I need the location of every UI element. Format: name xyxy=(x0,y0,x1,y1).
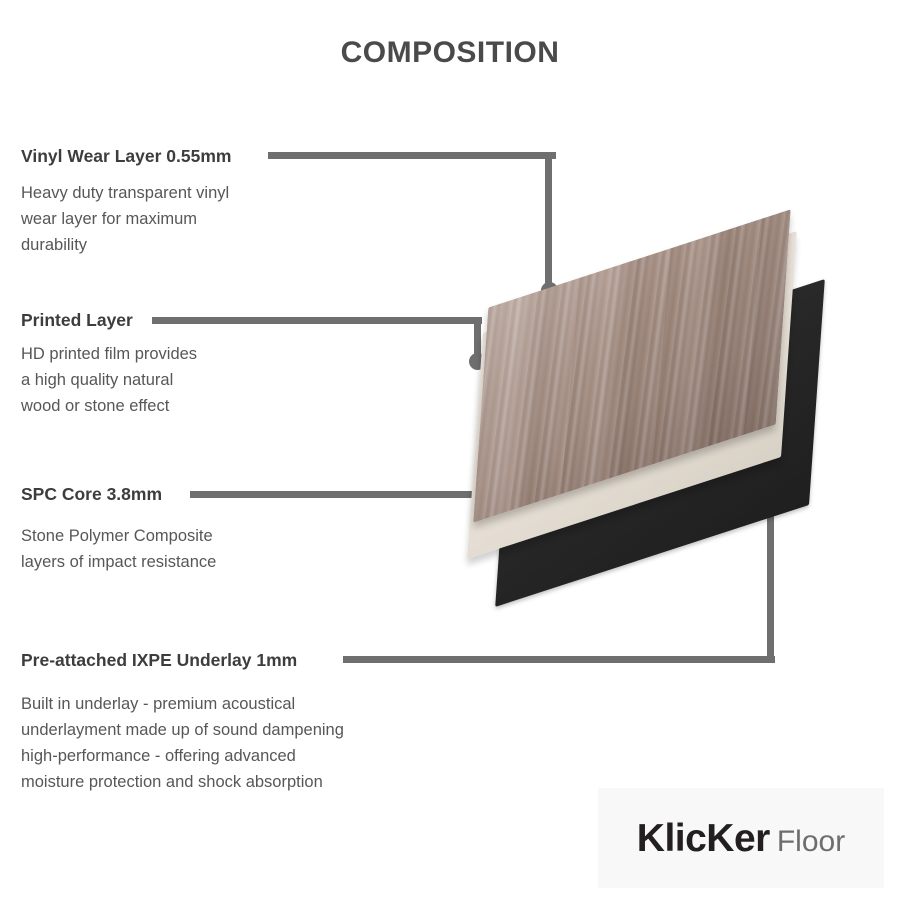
page-title: COMPOSITION xyxy=(0,36,900,70)
callout-body-line: a high quality natural xyxy=(21,367,197,393)
callout-body-line: underlayment made up of sound dampening xyxy=(21,717,344,743)
callout-body-line: HD printed film provides xyxy=(21,341,197,367)
callout-spc-core: SPC Core 3.8mm Stone Polymer Composite l… xyxy=(21,485,216,575)
logo-secondary-text: Floor xyxy=(777,825,845,858)
callout-body-line: Built in underlay - premium acoustical xyxy=(21,691,344,717)
logo-primary-text: KlicKer xyxy=(637,817,770,860)
callout-body-line: layers of impact resistance xyxy=(21,549,216,575)
product-illustration xyxy=(455,228,885,548)
callout-printed-layer: Printed Layer HD printed film provides a… xyxy=(21,311,197,419)
callout-body-vinyl-wear-layer: Heavy duty transparent vinyl wear layer … xyxy=(21,180,231,258)
callout-body-line: wood or stone effect xyxy=(21,393,197,419)
brand-logo: KlicKerFloor xyxy=(598,788,884,888)
callout-body-line: Stone Polymer Composite xyxy=(21,523,216,549)
callout-ixpe-underlay: Pre-attached IXPE Underlay 1mm Built in … xyxy=(21,651,344,795)
leader-line-vinyl-wear-layer-horizontal xyxy=(268,152,556,159)
leader-line-printed-layer-horizontal xyxy=(152,317,482,324)
callout-title-spc-core: SPC Core 3.8mm xyxy=(21,485,216,504)
callout-body-line: durability xyxy=(21,232,231,258)
callout-body-line: moisture protection and shock absorption xyxy=(21,769,344,795)
callout-vinyl-wear-layer: Vinyl Wear Layer 0.55mm Heavy duty trans… xyxy=(21,147,231,258)
callout-title-ixpe-underlay: Pre-attached IXPE Underlay 1mm xyxy=(21,651,344,670)
callout-body-line: wear layer for maximum xyxy=(21,206,231,232)
callout-body-line: Heavy duty transparent vinyl xyxy=(21,180,231,206)
callout-title-printed-layer: Printed Layer xyxy=(21,311,197,330)
composition-infographic: COMPOSITION Vinyl Wear Layer 0.55mm Heav… xyxy=(0,0,900,900)
callout-title-vinyl-wear-layer: Vinyl Wear Layer 0.55mm xyxy=(21,147,231,166)
callout-body-line: high-performance - offering advanced xyxy=(21,743,344,769)
callout-body-ixpe-underlay: Built in underlay - premium acoustical u… xyxy=(21,691,344,795)
callout-body-spc-core: Stone Polymer Composite layers of impact… xyxy=(21,523,216,575)
leader-line-ixpe-underlay-horizontal xyxy=(343,656,775,663)
callout-body-printed-layer: HD printed film provides a high quality … xyxy=(21,341,197,419)
